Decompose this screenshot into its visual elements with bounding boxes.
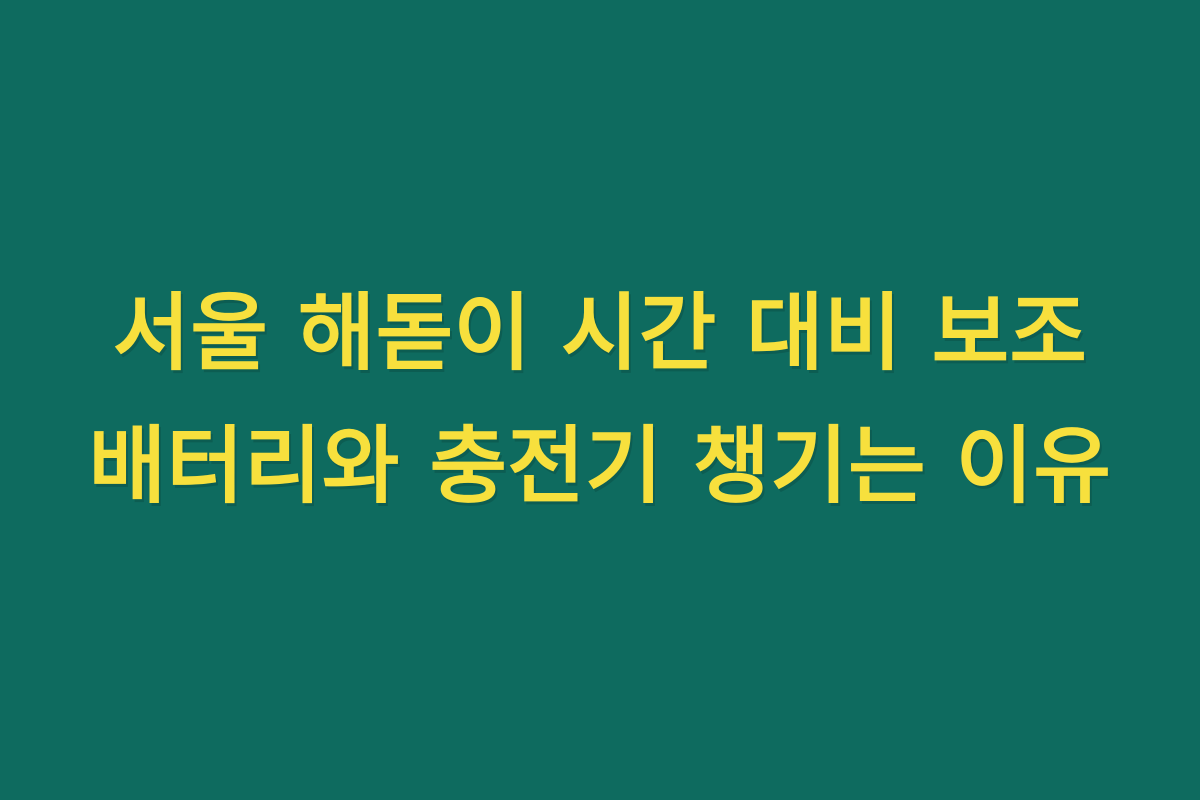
banner-card: 서울 해돋이 시간 대비 보조 배터리와 충전기 챙기는 이유 — [0, 0, 1200, 800]
headline-text: 서울 해돋이 시간 대비 보조 배터리와 충전기 챙기는 이유 — [70, 267, 1130, 532]
